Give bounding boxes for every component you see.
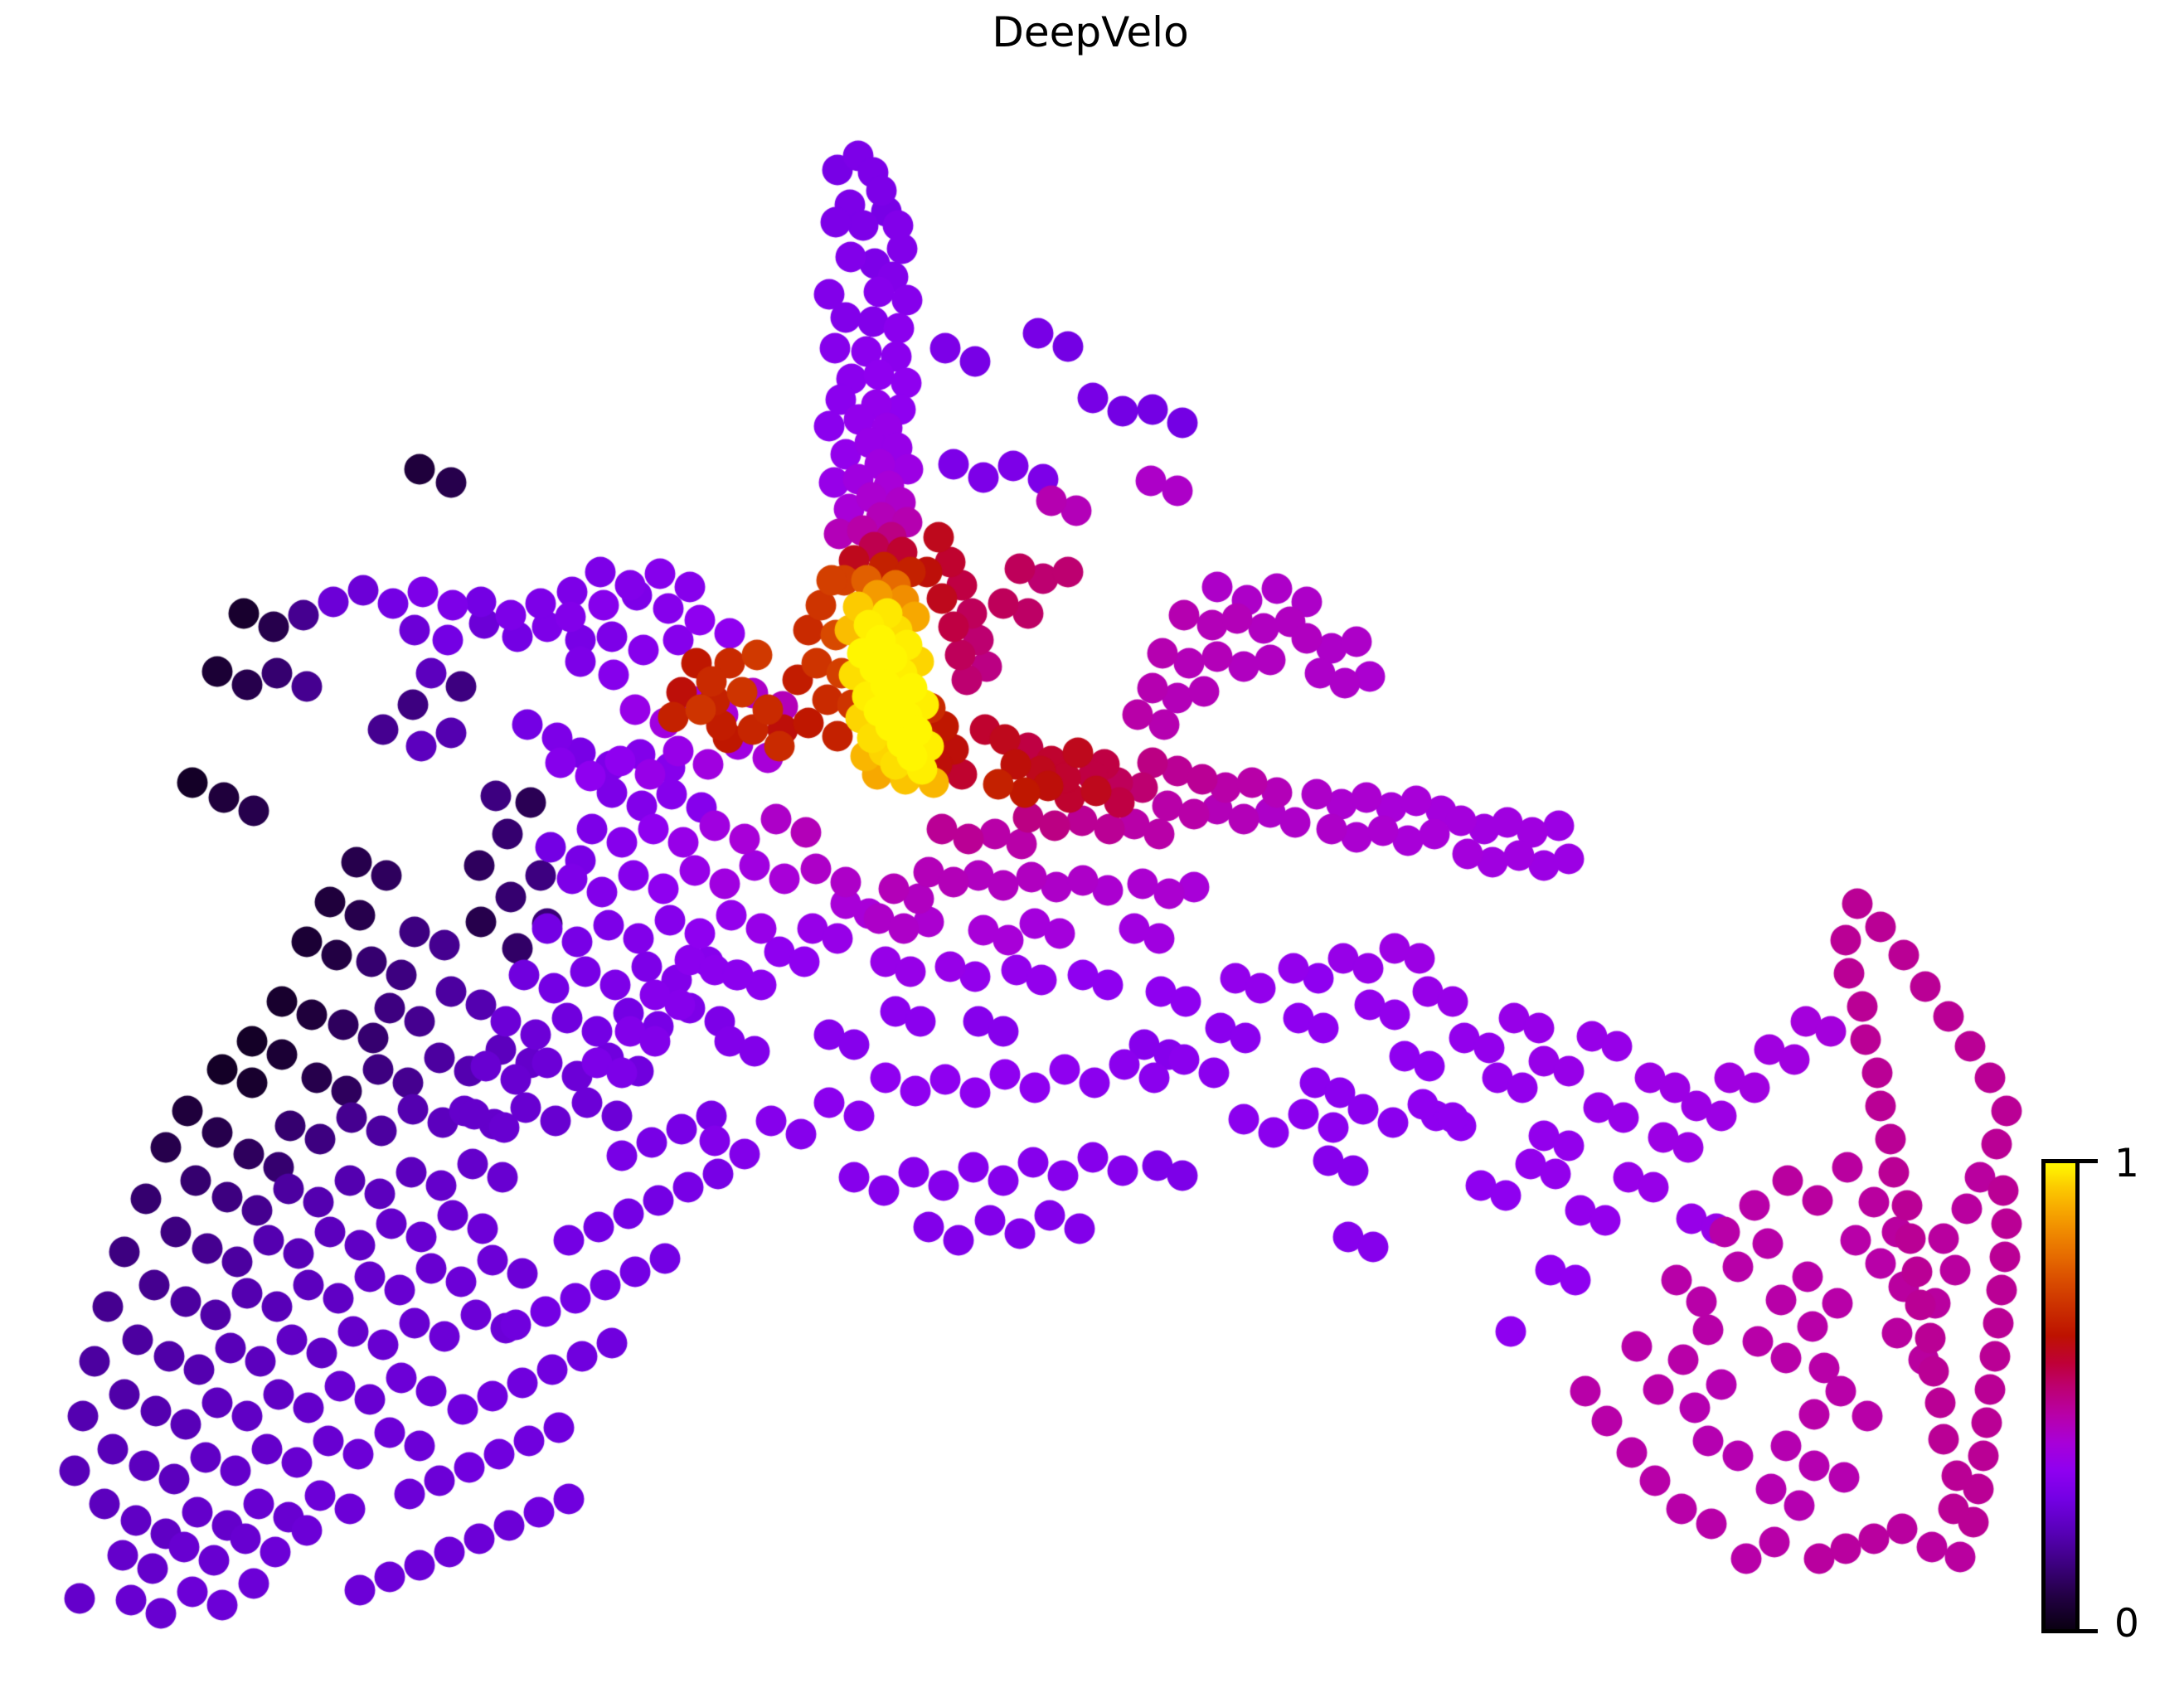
colorbar-label-min: 0 (2114, 1604, 2139, 1643)
deepvelo-scatter-figure: DeepVelo 1 0 (0, 0, 2184, 1688)
colorbar-tick-max (2080, 1159, 2098, 1163)
colorbar-tick-min (2080, 1629, 2098, 1633)
scatter-plot-canvas (0, 0, 2184, 1688)
colorbar-label-max: 1 (2114, 1144, 2139, 1183)
colorbar-gradient-bar (2041, 1159, 2080, 1633)
colorbar: 1 0 (2041, 1159, 2184, 1636)
